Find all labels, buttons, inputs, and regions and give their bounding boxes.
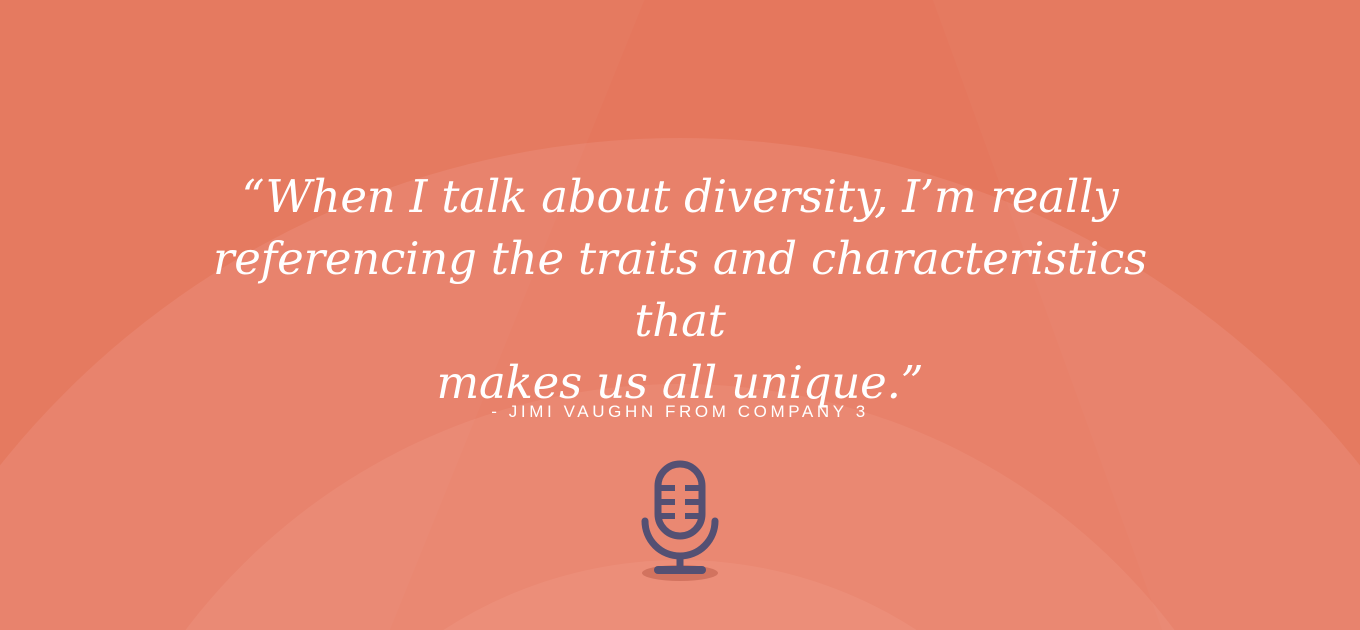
quote-card: “When I talk about diversity, I’m really… [0, 0, 1360, 630]
microphone-glyph [620, 458, 740, 588]
quote-attribution: - JIMI VAUGHN FROM COMPANY 3 [130, 402, 1230, 422]
card-content: “When I talk about diversity, I’m really… [0, 0, 1360, 630]
microphone-grille-lines [661, 488, 699, 516]
quote-text: “When I talk about diversity, I’m really… [200, 166, 1160, 414]
microphone-icon [620, 458, 740, 588]
